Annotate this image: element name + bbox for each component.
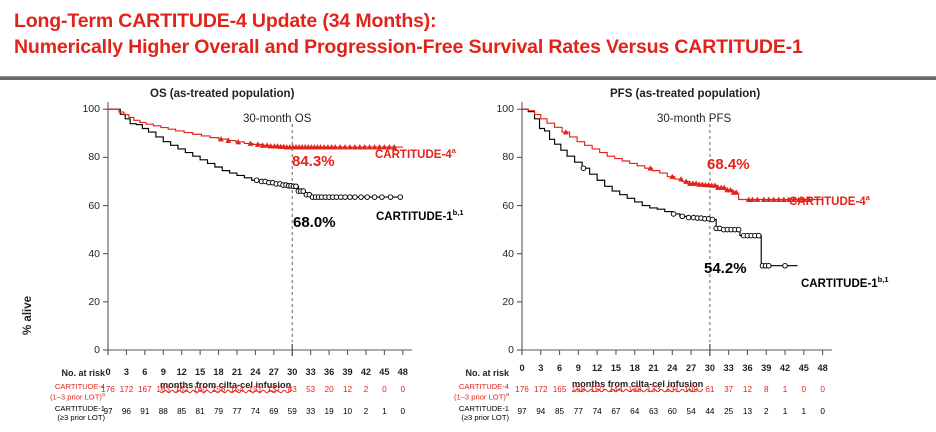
risk-value: 167	[138, 385, 152, 394]
legend-pfs-cartitude1: CARTITUDE-1b,1	[801, 275, 889, 290]
chart-panel-pfs: PFS (as-treated population) % surviving …	[462, 80, 936, 432]
x-tick-os-30: 30	[287, 367, 297, 377]
y-tick-pfs-80: 80	[484, 151, 514, 163]
risk-value: 74	[593, 407, 602, 416]
x-tick-os-21: 21	[232, 367, 242, 377]
x-tick-os-27: 27	[269, 367, 279, 377]
x-tick-pfs-12: 12	[592, 363, 602, 373]
risk-value: 158	[212, 385, 226, 394]
risk-value: 176	[515, 385, 529, 394]
risk-value: 12	[343, 385, 352, 394]
y-tick-os-60: 60	[70, 200, 100, 212]
risk-value: 172	[120, 385, 134, 394]
annotation-pfs-cartitude4-pct: 68.4%	[707, 156, 750, 173]
risk-value: 2	[364, 385, 369, 394]
risk-value: 10	[343, 407, 352, 416]
legend-pfs-cartitude1-text: CARTITUDE-1	[801, 278, 878, 290]
risk-value: 2	[364, 407, 369, 416]
risk-value: 54	[687, 407, 696, 416]
y-tick-pfs-20: 20	[484, 296, 514, 308]
risk-value: 8	[764, 385, 769, 394]
risk-value: 69	[269, 407, 278, 416]
x-tick-pfs-42: 42	[780, 363, 790, 373]
x-tick-pfs-48: 48	[817, 363, 827, 373]
risk-value: 85	[177, 407, 186, 416]
x-tick-pfs-0: 0	[519, 363, 524, 373]
risk-values-os-cartitude4: 1761721671631621601581541511378353201220…	[0, 385, 460, 397]
x-tick-pfs-21: 21	[648, 363, 658, 373]
y-tick-os-20: 20	[70, 296, 100, 308]
y-tick-os-0: 0	[70, 344, 100, 356]
x-tick-pfs-27: 27	[686, 363, 696, 373]
slide-root: Long-Term CARTITUDE-4 Update (34 Months)…	[0, 0, 936, 432]
risk-values-pfs-cartitude4: 1761721651581501441381331311096137128100	[462, 385, 936, 397]
risk-value: 91	[140, 407, 149, 416]
risk-value: 20	[325, 385, 334, 394]
risk-value: 163	[156, 385, 170, 394]
risk-value: 144	[609, 385, 623, 394]
x-tick-os-15: 15	[195, 367, 205, 377]
risk-value: 97	[103, 407, 112, 416]
risk-value: 33	[306, 407, 315, 416]
legend-pfs-cartitude1-sup: b,1	[878, 275, 889, 284]
legend-os-cartitude4-sup: a	[452, 146, 456, 155]
x-tick-os-48: 48	[398, 367, 408, 377]
y-tick-pfs-100: 100	[484, 103, 514, 115]
title-line-2: Numerically Higher Overall and Progressi…	[14, 34, 932, 60]
x-tick-pfs-3: 3	[538, 363, 543, 373]
x-tick-os-6: 6	[142, 367, 147, 377]
x-tick-os-45: 45	[379, 367, 389, 377]
risk-value: 176	[101, 385, 115, 394]
risk-value: 158	[572, 385, 586, 394]
legend-os-cartitude1-text: CARTITUDE-1	[376, 211, 453, 223]
risk-value: 150	[590, 385, 604, 394]
x-tick-pfs-9: 9	[576, 363, 581, 373]
legend-os-cartitude4-text: CARTITUDE-4	[375, 149, 452, 161]
x-tick-pfs-39: 39	[761, 363, 771, 373]
annotation-os-cartitude1-pct: 68.0%	[293, 214, 336, 231]
risk-value: 60	[668, 407, 677, 416]
title-line-1: Long-Term CARTITUDE-4 Update (34 Months)…	[14, 8, 932, 34]
risk-value: 53	[306, 385, 315, 394]
risk-value: 63	[649, 407, 658, 416]
y-tick-os-40: 40	[70, 248, 100, 260]
risk-value: 25	[724, 407, 733, 416]
y-tick-os-80: 80	[70, 151, 100, 163]
risk-value: 2	[764, 407, 769, 416]
x-tick-os-12: 12	[177, 367, 187, 377]
plot-area-os	[0, 80, 460, 380]
plot-area-pfs	[462, 80, 936, 380]
risk-value: 1	[783, 385, 788, 394]
y-tick-os-100: 100	[70, 103, 100, 115]
x-tick-os-18: 18	[213, 367, 223, 377]
risk-value: 13	[743, 407, 752, 416]
risk-value: 19	[325, 407, 334, 416]
milestone-label-os: 30-month OS	[243, 113, 311, 125]
chart-panel-os: OS (as-treated population) % alive 30-mo…	[0, 80, 460, 432]
risk-value: 74	[251, 407, 260, 416]
risk-value: 151	[249, 385, 263, 394]
risk-value: 64	[630, 407, 639, 416]
y-tick-pfs-40: 40	[484, 248, 514, 260]
x-tick-pfs-18: 18	[630, 363, 640, 373]
legend-pfs-cartitude4-sup: a	[866, 193, 870, 202]
risk-value: 0	[820, 407, 825, 416]
legend-os-cartitude4: CARTITUDE-4a	[375, 146, 456, 161]
risk-value: 172	[534, 385, 548, 394]
y-tick-pfs-0: 0	[484, 344, 514, 356]
risk-value: 77	[232, 407, 241, 416]
risk-value: 85	[555, 407, 564, 416]
risk-values-os-cartitude1: 9796918885817977746959331910210	[0, 407, 460, 419]
risk-value: 83	[288, 385, 297, 394]
risk-value: 109	[684, 385, 698, 394]
x-tick-pfs-45: 45	[799, 363, 809, 373]
risk-value: 96	[122, 407, 131, 416]
x-tick-os-24: 24	[250, 367, 260, 377]
risk-value: 59	[288, 407, 297, 416]
annotation-os-cartitude4-pct: 84.3%	[292, 153, 335, 170]
risk-value: 12	[743, 385, 752, 394]
x-tick-os-36: 36	[324, 367, 334, 377]
x-tick-pfs-6: 6	[557, 363, 562, 373]
legend-pfs-cartitude4-text: CARTITUDE-4	[789, 196, 866, 208]
risk-value: 44	[705, 407, 714, 416]
risk-value: 160	[193, 385, 207, 394]
risk-value: 88	[159, 407, 168, 416]
risk-value: 97	[517, 407, 526, 416]
x-tick-pfs-33: 33	[724, 363, 734, 373]
annotation-pfs-cartitude1-pct: 54.2%	[704, 260, 747, 277]
risk-value: 1	[382, 407, 387, 416]
x-tick-pfs-15: 15	[611, 363, 621, 373]
risk-value: 0	[382, 385, 387, 394]
risk-value: 131	[665, 385, 679, 394]
y-tick-pfs-60: 60	[484, 200, 514, 212]
risk-value: 94	[536, 407, 545, 416]
risk-value: 0	[802, 385, 807, 394]
x-tick-labels-pfs: 036912151821242730333639424548	[462, 363, 936, 375]
risk-value: 0	[401, 407, 406, 416]
x-tick-os-3: 3	[124, 367, 129, 377]
milestone-label-pfs: 30-month PFS	[657, 113, 731, 125]
x-tick-os-39: 39	[342, 367, 352, 377]
x-tick-pfs-36: 36	[742, 363, 752, 373]
risk-value: 1	[802, 407, 807, 416]
risk-value: 37	[724, 385, 733, 394]
risk-value: 67	[611, 407, 620, 416]
x-tick-pfs-30: 30	[705, 363, 715, 373]
risk-value: 154	[230, 385, 244, 394]
risk-values-pfs-cartitude1: 979485777467646360544425132110	[462, 407, 936, 419]
risk-value: 1	[783, 407, 788, 416]
legend-os-cartitude1: CARTITUDE-1b,1	[376, 208, 464, 223]
risk-value: 77	[574, 407, 583, 416]
x-tick-os-33: 33	[306, 367, 316, 377]
x-tick-os-42: 42	[361, 367, 371, 377]
x-tick-labels-os: 036912151821242730333639424548	[0, 367, 460, 379]
x-tick-os-0: 0	[105, 367, 110, 377]
risk-value: 165	[553, 385, 567, 394]
risk-value: 0	[820, 385, 825, 394]
risk-value: 138	[628, 385, 642, 394]
x-tick-pfs-24: 24	[667, 363, 677, 373]
risk-value: 79	[214, 407, 223, 416]
page-title: Long-Term CARTITUDE-4 Update (34 Months)…	[14, 8, 932, 60]
x-tick-os-9: 9	[161, 367, 166, 377]
risk-value: 137	[267, 385, 281, 394]
risk-value: 133	[647, 385, 661, 394]
risk-value: 0	[401, 385, 406, 394]
legend-pfs-cartitude4: CARTITUDE-4a	[789, 193, 870, 208]
risk-value: 61	[705, 385, 714, 394]
risk-value: 81	[196, 407, 205, 416]
risk-value: 162	[175, 385, 189, 394]
